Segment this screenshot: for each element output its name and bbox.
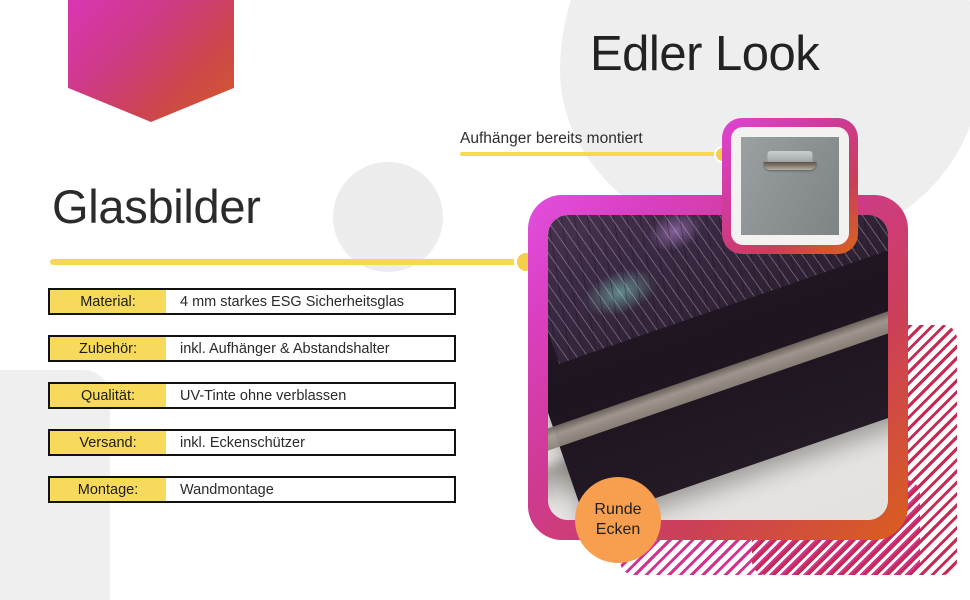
annotation-hanger-label: Aufhänger bereits montiert <box>460 130 643 148</box>
glass-print-corner-photo <box>548 215 888 520</box>
spec-label: Qualität: <box>50 384 166 407</box>
table-row: Qualität: UV-Tinte ohne verblassen <box>48 382 456 409</box>
table-row: Zubehör: inkl. Aufhänger & Abstandshalte… <box>48 335 456 362</box>
spec-value: Wandmontage <box>166 478 454 501</box>
status-badge-runde-ecken: Runde Ecken <box>575 477 661 563</box>
hanger-slot-icon <box>764 162 817 171</box>
table-row: Versand: inkl. Eckenschützer <box>48 429 456 456</box>
spec-label: Zubehör: <box>50 337 166 360</box>
shield-logo <box>68 0 234 122</box>
connector-line-main <box>50 259 524 265</box>
hanger-thumbnail-inner <box>731 127 849 245</box>
spec-value: inkl. Eckenschützer <box>166 431 454 454</box>
connector-line-hanger <box>460 152 722 156</box>
background-circle-center <box>333 162 443 272</box>
page-title: Glasbilder <box>52 179 261 234</box>
mounted-hanger-thumbnail <box>741 137 839 235</box>
promo-banner: Edler Look Glasbilder Aufhänger bereits … <box>0 0 970 600</box>
table-row: Montage: Wandmontage <box>48 476 456 503</box>
spec-value: 4 mm starkes ESG Sicherheitsglas <box>166 290 454 313</box>
headline-edler-look: Edler Look <box>590 26 819 82</box>
spec-value: inkl. Aufhänger & Abstandshalter <box>166 337 454 360</box>
spec-label: Versand: <box>50 431 166 454</box>
spec-table: Material: 4 mm starkes ESG Sicherheitsgl… <box>48 288 456 523</box>
spec-label: Montage: <box>50 478 166 501</box>
spec-label: Material: <box>50 290 166 313</box>
spec-value: UV-Tinte ohne verblassen <box>166 384 454 407</box>
table-row: Material: 4 mm starkes ESG Sicherheitsgl… <box>48 288 456 315</box>
badge-line-1: Runde <box>594 500 641 520</box>
badge-line-2: Ecken <box>596 520 640 540</box>
hanger-thumbnail-frame <box>722 118 858 254</box>
